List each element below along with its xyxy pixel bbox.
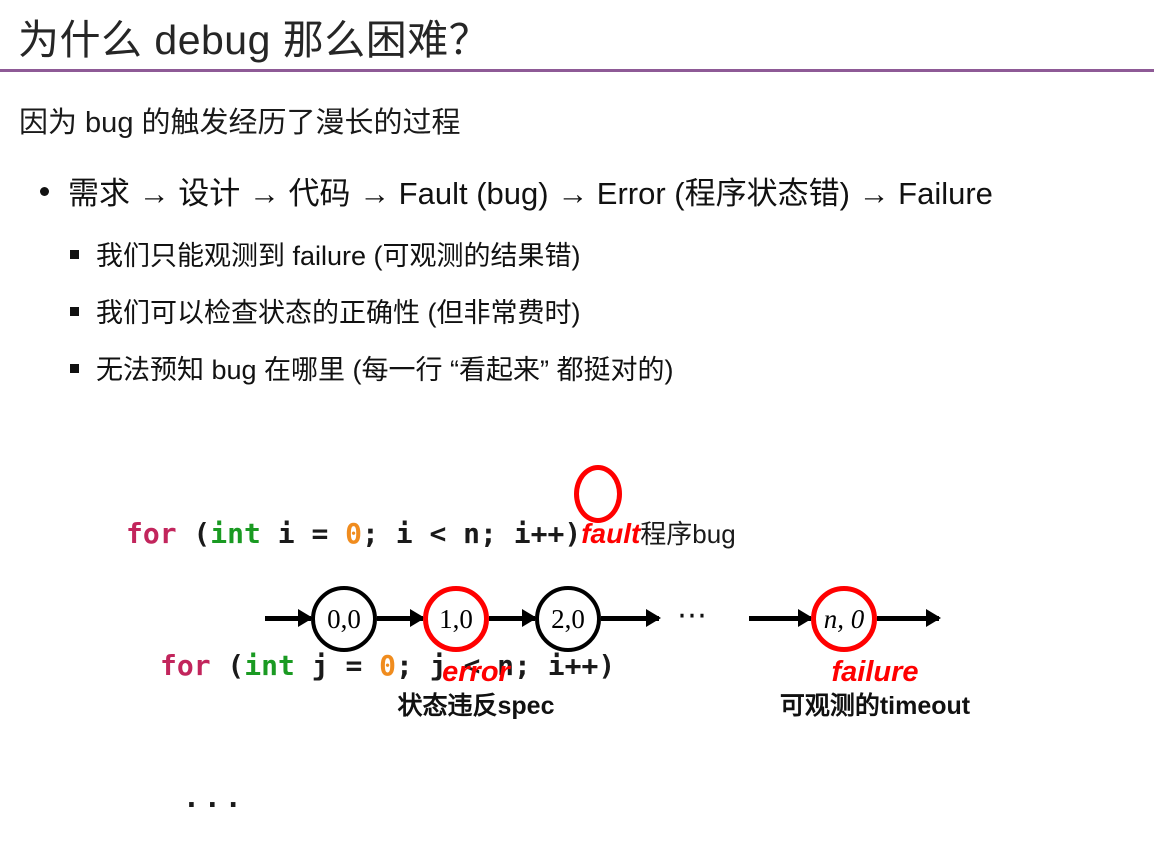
error-caption-group: error 状态违反spec [378, 655, 574, 723]
bullet-level2-label: 我们可以检查状态的正确性 (但非常费时) [96, 291, 580, 330]
fault-annotation-note: 程序bug [640, 519, 735, 549]
bullet-dot-icon [40, 187, 49, 196]
bullet-level2-item: 我们只能观测到 failure (可观测的结果错) [70, 234, 581, 273]
state-node-10: 1,0 [423, 586, 489, 652]
error-caption-zh: 状态违反spec [378, 689, 574, 723]
transition-arrow [601, 616, 659, 621]
bullet-square-icon [70, 307, 79, 316]
code-keyword-for: for [126, 517, 177, 550]
bullet-square-icon [70, 364, 79, 373]
failure-caption-group: failure 可观测的timeout [770, 655, 980, 723]
code-line: for (int i = 0; i < n; i++)fault程序bug [126, 512, 736, 556]
bullet-level2-item: 我们可以检查状态的正确性 (但非常费时) [70, 291, 580, 330]
state-node-20: 2,0 [535, 586, 601, 652]
transition-arrow [877, 616, 939, 621]
code-text: i = [261, 517, 345, 550]
code-number: 0 [345, 517, 362, 550]
state-node-00: 0,0 [311, 586, 377, 652]
lead-paragraph: 因为 bug 的触发经历了漫长的过程 [19, 99, 461, 141]
transition-arrow [749, 616, 811, 621]
code-punct: ( [177, 517, 211, 550]
bullet-level2-item: 无法预知 bug 在哪里 (每一行 “看起来” 都挺对的) [70, 348, 674, 387]
bullet-level2-label: 无法预知 bug 在哪里 (每一行 “看起来” 都挺对的) [96, 348, 674, 387]
title-divider [0, 69, 1154, 72]
diagram-ellipsis: ⋯ [677, 598, 711, 633]
failure-caption-en: failure [770, 655, 980, 689]
state-node-n0: n, 0 [811, 586, 877, 652]
page-title: 为什么 debug 那么困难？ [18, 6, 490, 66]
bullet-level1: 需求 → 设计 → 代码 → Fault (bug) → Error (程序状态… [40, 168, 993, 213]
bullet-square-icon [70, 250, 79, 259]
transition-arrow [265, 616, 311, 621]
code-keyword-for: for [160, 649, 211, 682]
code-text: ; i < n; i++) [362, 517, 581, 550]
fault-annotation-label: fault [581, 518, 640, 549]
fault-highlight-circle-icon [574, 465, 622, 523]
transition-arrow [377, 616, 423, 621]
error-caption-en: error [378, 655, 574, 689]
bullet-level1-label: 需求 → 设计 → 代码 → Fault (bug) → Error (程序状态… [68, 168, 993, 213]
failure-caption-zh: 可观测的timeout [770, 689, 980, 723]
code-type-int: int [210, 517, 261, 550]
bullet-level2-label: 我们只能观测到 failure (可观测的结果错) [96, 234, 581, 273]
code-punct: ( [211, 649, 245, 682]
transition-arrow [489, 616, 535, 621]
code-line-ellipsis: ... [126, 776, 736, 820]
